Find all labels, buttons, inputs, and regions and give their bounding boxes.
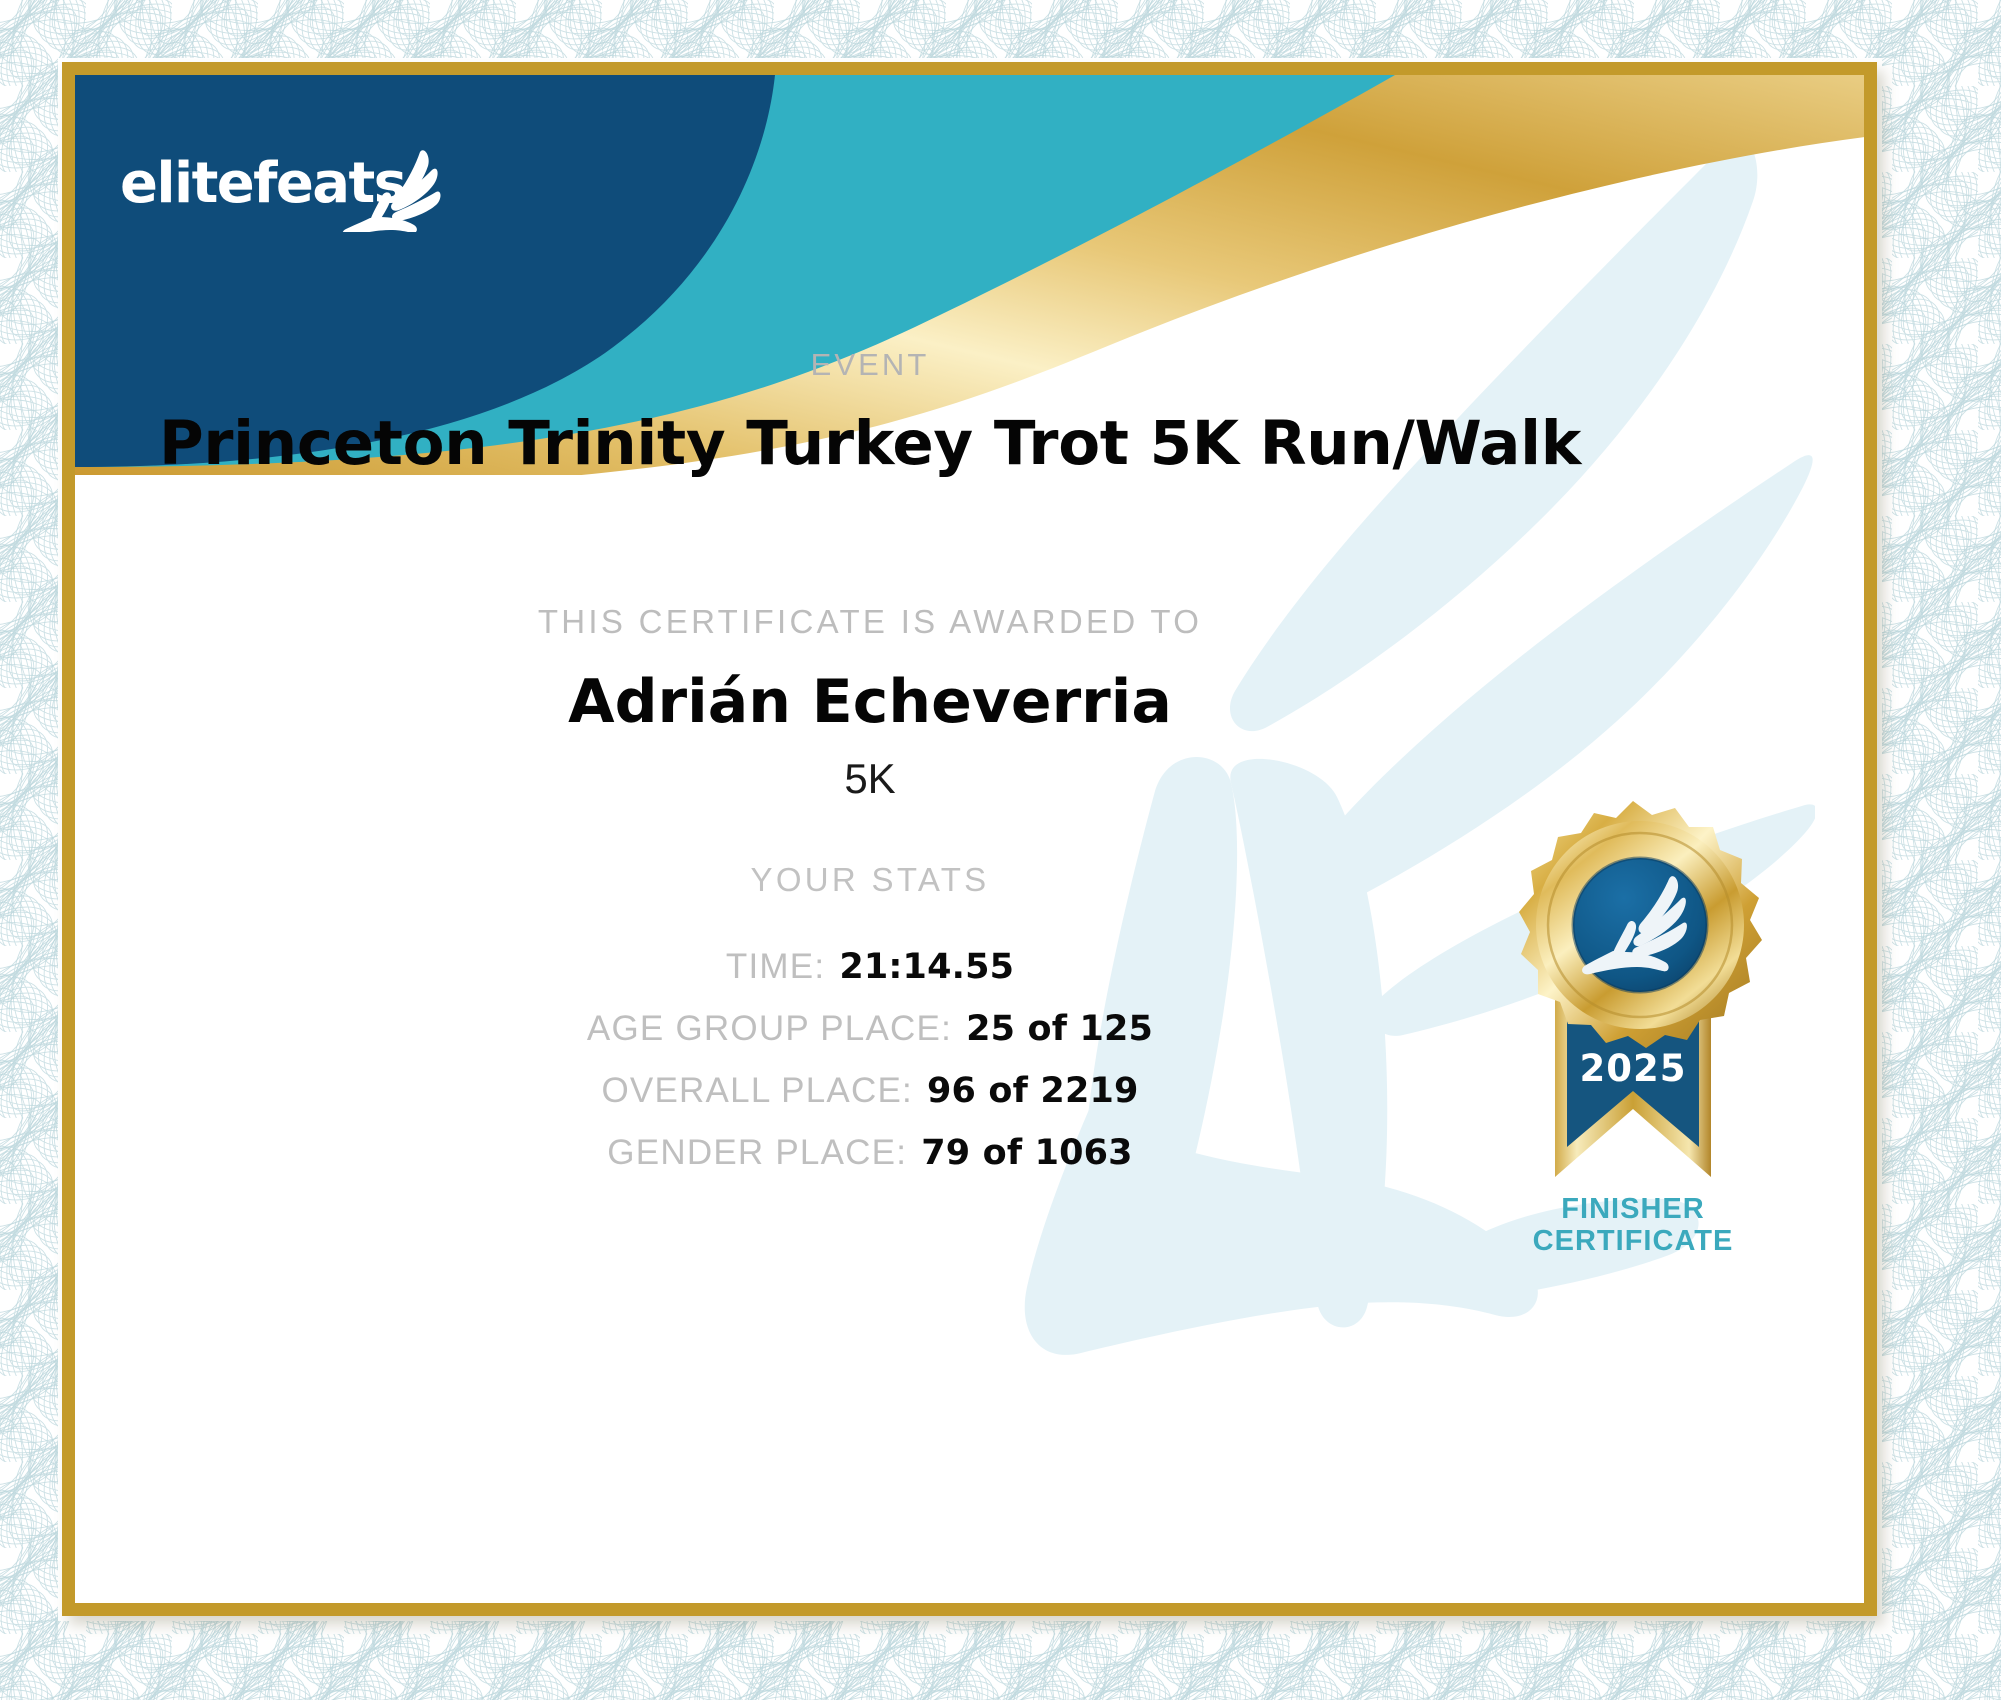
stat-key: GENDER PLACE: [607,1133,907,1173]
stat-row-time: TIME: 21:14.55 [75,947,1665,987]
stats-list: TIME: 21:14.55 AGE GROUP PLACE: 25 of 12… [75,947,1665,1195]
stat-key: AGE GROUP PLACE: [587,1009,952,1049]
certificate-card: elitefeats EVENT Princeton Trinity Turke… [62,62,1877,1616]
event-title: Princeton Trinity Turkey Trot 5K Run/Wal… [75,408,1665,479]
awarded-to-label: THIS CERTIFICATE IS AWARDED TO [75,603,1665,641]
stat-key: TIME: [726,947,825,987]
badge-year: 2025 [1580,1047,1687,1090]
recipient-name: Adrián Echeverria [75,667,1665,737]
stat-row-overall-place: OVERALL PLACE: 96 of 2219 [75,1071,1665,1111]
stat-value: 21:14.55 [839,947,1014,987]
badge-caption-line1: FINISHER [1483,1193,1783,1225]
certificate-inner: elitefeats EVENT Princeton Trinity Turke… [75,75,1864,1603]
stat-key: OVERALL PLACE: [601,1071,913,1111]
finisher-medal-badge: 2025 FINISHER CERTIFICATE [1483,795,1783,1265]
stat-row-gender-place: GENDER PLACE: 79 of 1063 [75,1133,1665,1173]
badge-caption: FINISHER CERTIFICATE [1483,1193,1783,1258]
stat-row-age-group-place: AGE GROUP PLACE: 25 of 125 [75,1009,1665,1049]
stat-value: 96 of 2219 [927,1071,1139,1111]
race-distance: 5K [75,755,1665,803]
event-label: EVENT [75,347,1665,383]
your-stats-label: YOUR STATS [75,861,1665,899]
badge-caption-line2: CERTIFICATE [1483,1225,1783,1257]
stat-value: 79 of 1063 [921,1133,1133,1173]
stat-value: 25 of 125 [966,1009,1153,1049]
medal-graphic: 2025 [1483,795,1783,1195]
certificate-page: elitefeats EVENT Princeton Trinity Turke… [0,0,2001,1700]
